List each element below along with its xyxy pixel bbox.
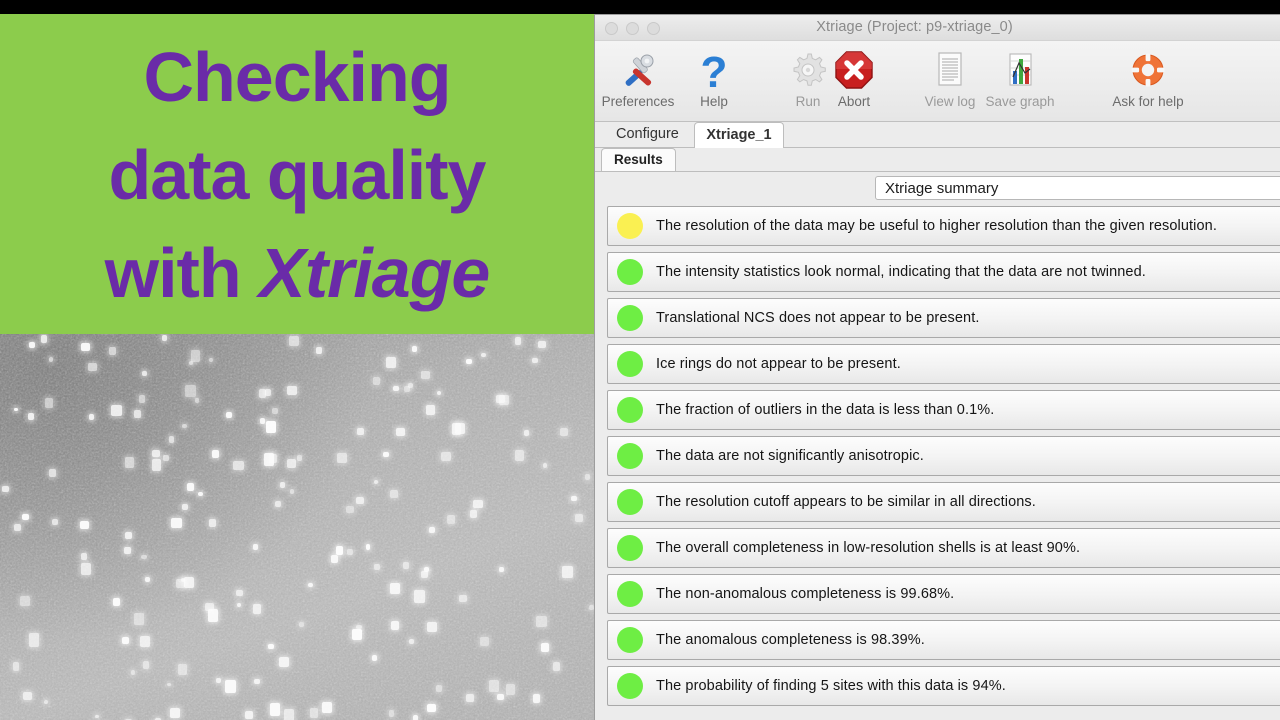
diffraction-spot [81,563,91,574]
diffraction-spot [424,567,429,572]
result-text: The resolution cutoff appears to be simi… [656,494,1036,510]
diffraction-spot [209,519,216,527]
result-row[interactable]: Ice rings do not appear to be present. [607,344,1280,384]
diffraction-spot [13,662,20,671]
diffraction-spot [466,694,474,702]
diffraction-spot [29,342,35,348]
diffraction-spot [541,643,550,651]
diffraction-spot [396,428,405,436]
screenshot-root: Checking data quality with Xtriage [0,0,1280,720]
title-line-3-plain: with [105,234,259,312]
diffraction-spot [163,455,169,461]
diffraction-spot [427,704,436,712]
diffraction-spot [45,398,53,408]
diffraction-spot [23,692,32,700]
diffraction-spot [14,524,21,531]
diffraction-spot [237,603,242,607]
diffraction-spot [352,629,362,640]
diffraction-spot [280,482,285,488]
result-text: The anomalous completeness is 98.39%. [656,632,925,648]
diffraction-spot [429,527,435,533]
diffraction-spot [421,571,428,578]
diffraction-spot [225,680,236,694]
diffraction-spot [524,430,529,436]
diffraction-spot [171,518,182,529]
status-indicator-green-icon [617,627,643,653]
diffraction-spot [390,490,398,497]
diffraction-spot [191,350,201,362]
window-title: Xtriage (Project: p9-xtriage_0) [595,19,1280,35]
secondary-tabbar: Results [595,148,1280,172]
diffraction-spot [122,637,130,644]
diffraction-spot [233,461,244,471]
diffraction-spot [131,670,135,675]
diffraction-spot [386,357,396,368]
diffraction-spot [266,421,276,433]
diffraction-spot [41,335,48,344]
diffraction-spot [346,506,354,513]
diffraction-spot [403,562,409,569]
diffraction-spot [562,566,573,578]
toolbar-button-abort[interactable]: Abort [811,43,897,109]
diffraction-spot [14,408,18,412]
result-text: The non-anomalous completeness is 99.68%… [656,586,954,602]
diffraction-spot [269,454,278,463]
diffraction-spot [374,564,380,570]
diffraction-spot [185,385,196,397]
diffraction-spot [459,595,467,602]
diffraction-spot [189,361,193,365]
diffraction-spot [152,450,160,457]
diffraction-spot [506,684,515,695]
diffraction-spot [167,683,171,687]
diffraction-spot [284,709,295,720]
tools-icon [595,43,681,91]
diffraction-spot [427,622,437,632]
svg-text:?: ? [701,49,728,91]
diffraction-spot [145,577,150,583]
title-line-3-italic: Xtriage [259,234,489,312]
diffraction-spot [536,616,547,627]
diffraction-spot [212,450,220,458]
diffraction-spot [22,514,29,520]
primary-tabbar: Configure Xtriage_1 [595,122,1280,148]
diffraction-spot [182,424,188,429]
status-indicator-green-icon [617,259,643,285]
presentation-slide-panel: Checking data quality with Xtriage [0,14,594,720]
diffraction-spot [489,680,499,692]
diffraction-spot [316,347,323,353]
diffraction-spots [0,334,594,720]
diffraction-spot [389,710,394,717]
diffraction-spot [515,337,522,345]
diffraction-spot [470,510,477,518]
diffraction-spot [152,459,161,470]
diffraction-spot [372,655,377,661]
diffraction-spot [499,395,509,406]
diffraction-spot [436,685,442,692]
diffraction-spot [113,598,120,607]
diffraction-spot [373,377,380,385]
diffraction-spot [426,405,436,415]
diffraction-spot [287,459,296,468]
diffraction-spot [134,410,141,418]
results-list[interactable]: The resolution of the data may be useful… [595,202,1280,720]
diffraction-spot [268,644,275,649]
result-row[interactable]: The resolution cutoff appears to be simi… [607,482,1280,522]
summary-selector-row: Xtriage summary [595,172,1280,202]
diffraction-spot [275,501,281,507]
diffraction-spot [124,547,132,554]
diffraction-spot [543,463,548,468]
diffraction-spot [169,436,174,443]
diffraction-spot [170,708,179,718]
diffraction-spot [499,567,504,571]
diffraction-spot [95,715,99,719]
diffraction-spot [88,363,97,372]
diffraction-spot [538,341,547,348]
diffraction-spot [414,590,425,603]
diffraction-spot [89,414,94,420]
diffraction-spot [374,480,379,484]
toolbar-label-ask-for-help: Ask for help [1105,94,1191,109]
title-line-3: with Xtriage [0,224,594,322]
diffraction-spot [310,708,318,717]
title-line-2: data quality [0,126,594,224]
diffraction-spot [139,395,145,403]
status-indicator-green-icon [617,397,643,423]
diffraction-spot [408,383,413,388]
result-row[interactable]: The anomalous completeness is 98.39%. [607,620,1280,660]
diffraction-spot [322,702,332,713]
diffraction-spot [270,703,280,715]
diffraction-spot [532,358,539,364]
diffraction-spot [198,492,202,496]
window-titlebar: Xtriage (Project: p9-xtriage_0) [595,15,1280,41]
diffraction-spot [299,622,304,627]
diffraction-spot [125,457,134,468]
result-text: The overall completeness in low-resoluti… [656,540,1080,556]
diffraction-spot [383,452,389,457]
diffraction-spot [390,583,400,594]
status-indicator-green-icon [617,535,643,561]
toolbar-label-save-graph: Save graph [977,94,1063,109]
result-row[interactable]: The overall completeness in low-resoluti… [607,528,1280,568]
page-title: Checking data quality with Xtriage [0,28,594,322]
bar-chart-icon [977,43,1063,91]
diffraction-spot [253,604,261,614]
diffraction-spot [473,500,483,509]
result-row[interactable]: The data are not significantly anisotrop… [607,436,1280,476]
result-text: The fraction of outliers in the data is … [656,402,994,418]
diffraction-spot [265,389,272,397]
diffraction-spot [409,639,415,644]
diffraction-spot [366,544,370,549]
diffraction-spot [208,609,219,622]
diffraction-spot [515,450,525,461]
diffraction-spot [49,357,53,362]
diffraction-spot [195,398,200,403]
toolbar-label-preferences: Preferences [595,94,681,109]
diffraction-spot [236,590,242,596]
diffraction-spot [560,428,568,437]
diffraction-spot [290,489,294,494]
toolbar-button-save-graph[interactable]: Save graph [977,43,1063,109]
stop-x-icon [811,43,897,91]
diffraction-spot [143,661,150,669]
toolbar-label-abort: Abort [811,94,897,109]
xtriage-application-window: Xtriage (Project: p9-xtriage_0) [594,14,1280,720]
diffraction-spot [178,664,187,675]
diffraction-spot [447,515,455,525]
title-line-1: Checking [0,28,594,126]
result-text: The resolution of the data may be useful… [656,218,1217,234]
tab-xtriage-1[interactable]: Xtriage_1 [694,122,783,148]
diffraction-spot [289,336,299,346]
diffraction-spot [2,486,8,492]
result-row[interactable]: The intensity statistics look normal, in… [607,252,1280,292]
result-row[interactable]: The fraction of outliers in the data is … [607,390,1280,430]
diffraction-spot [216,678,222,683]
status-indicator-green-icon [617,673,643,699]
result-text: The data are not significantly anisotrop… [656,448,924,464]
diffraction-spot [391,621,398,629]
diffraction-spot [187,483,194,491]
slide-title-card: Checking data quality with Xtriage [0,14,594,334]
diffraction-spot [80,521,89,529]
tab-results[interactable]: Results [601,148,676,171]
result-text: Ice rings do not appear to be present. [656,356,901,372]
diffraction-spot [140,636,150,647]
diffraction-spot [455,423,465,435]
diffraction-spot [272,408,279,414]
diffraction-spot [254,679,260,685]
diffraction-spot [134,613,144,625]
diffraction-image [0,334,594,720]
diffraction-spot [226,412,232,418]
diffraction-spot [29,633,40,647]
life-ring-icon [1105,43,1191,91]
diffraction-spot [497,694,504,700]
toolbar-label-help: Help [671,94,757,109]
diffraction-spot [49,469,56,477]
diffraction-spot [571,496,577,501]
question-mark-icon: ? [671,43,757,91]
status-indicator-green-icon [617,351,643,377]
diffraction-spot [176,579,185,589]
status-indicator-green-icon [617,443,643,469]
diffraction-spot [253,544,257,550]
diffraction-spot [142,371,147,376]
diffraction-spot [441,452,451,461]
result-row[interactable]: The probability of finding 5 sites with … [607,666,1280,706]
status-indicator-green-icon [617,489,643,515]
diffraction-spot [466,359,472,364]
diffraction-spot [331,555,339,563]
status-indicator-yellow-icon [617,213,643,239]
result-row[interactable]: The non-anomalous completeness is 99.68%… [607,574,1280,614]
diffraction-spot [20,596,30,606]
diffraction-spot [279,657,288,667]
result-text: The intensity statistics look normal, in… [656,264,1146,280]
diffraction-spot [347,549,353,555]
diffraction-spot [308,583,313,587]
diffraction-spot [357,428,364,434]
main-toolbar: Preferences ? Help [595,41,1280,122]
result-text: Translational NCS does not appear to be … [656,310,979,326]
toolbar-button-preferences[interactable]: Preferences [595,43,681,109]
diffraction-spot [28,413,34,420]
diffraction-spot [81,553,87,561]
result-row[interactable]: Translational NCS does not appear to be … [607,298,1280,338]
diffraction-spot [287,386,297,396]
diffraction-spot [480,637,489,646]
tab-configure[interactable]: Configure [605,122,690,147]
diffraction-spot [336,546,344,555]
diffraction-spot [585,474,590,480]
diffraction-spot [52,519,58,525]
diffraction-spot [260,418,265,424]
diffraction-spot [421,371,430,379]
letterbox-top [0,0,1280,14]
diffraction-spot [481,353,486,357]
toolbar-button-help[interactable]: ? Help [671,43,757,109]
diffraction-spot [413,715,418,720]
diffraction-spot [393,386,399,391]
diffraction-spot [437,391,441,396]
diffraction-spot [44,700,48,704]
diffraction-spot [553,662,561,671]
diffraction-spot [109,347,116,356]
result-text: The probability of finding 5 sites with … [656,678,1006,694]
diffraction-spot [575,514,582,522]
diffraction-spot [245,711,253,719]
diffraction-spot [337,453,347,464]
diffraction-spot [125,532,132,538]
diffraction-spot [209,358,214,362]
diffraction-spot [141,555,147,560]
diffraction-spot [182,504,188,510]
diffraction-spot [412,346,417,352]
diffraction-spot [297,455,302,461]
diffraction-spot [81,343,90,351]
toolbar-button-ask-for-help[interactable]: Ask for help [1105,43,1191,109]
diffraction-spot [356,497,364,504]
result-row[interactable]: The resolution of the data may be useful… [607,206,1280,246]
summary-dropdown[interactable]: Xtriage summary [875,176,1280,200]
diffraction-spot [111,405,122,416]
diffraction-spot [184,577,194,588]
status-indicator-green-icon [617,305,643,331]
status-indicator-green-icon [617,581,643,607]
summary-dropdown-value: Xtriage summary [885,180,998,197]
diffraction-spot [533,694,541,704]
diffraction-spot [162,335,167,341]
